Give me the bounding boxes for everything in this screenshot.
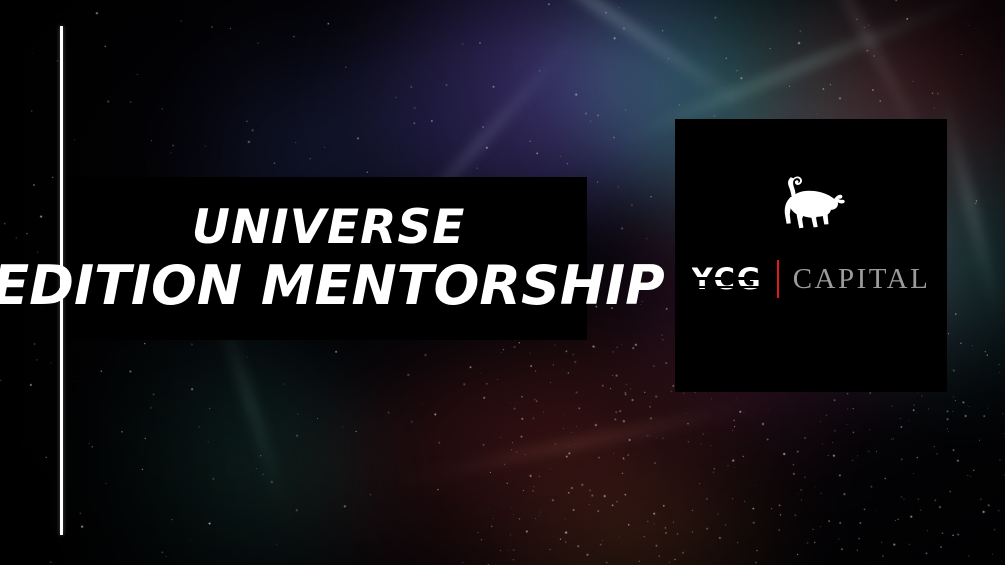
brand-wordmark: YCG CAPITAL [692,259,931,299]
brand-divider [777,260,779,298]
brand-secondary-text: CAPITAL [793,265,931,294]
logo-panel: YCG CAPITAL [675,119,947,392]
presentation-slide: UNIVERSE EDITION MENTORSHIP YCG CAPITAL [0,0,1005,565]
title-line-primary: UNIVERSE [192,204,466,252]
title-line-secondary: EDITION MENTORSHIP [0,258,665,313]
title-panel: UNIVERSE EDITION MENTORSHIP [70,177,587,340]
bull-icon [771,175,851,237]
brand-primary-text: YCG [692,265,763,294]
